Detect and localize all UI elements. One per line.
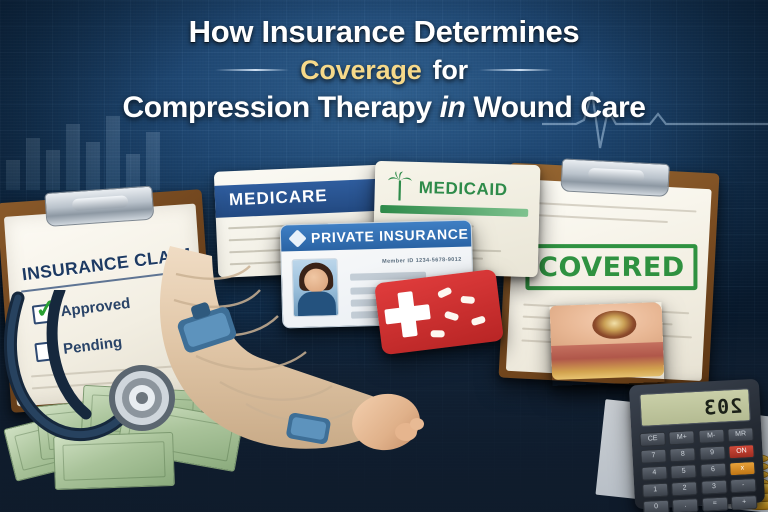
calculator[interactable]: 203 CE M+ M- MR 7 8 9 ON 4 5 6 x 1 2 3 -… [629,379,765,510]
calculator-key[interactable]: M+ [669,430,696,445]
status-stamp-covered: COVERED [525,244,697,290]
title-line-2: Coverage for [0,55,768,86]
calculator-key[interactable]: 3 [701,480,728,495]
card-medicaid-label: MEDICAID [419,178,508,200]
card-medicaid-accent-bar [380,205,528,217]
title-highlight-word: Coverage [300,55,421,86]
calculator-key[interactable]: MR [727,427,754,442]
calculator-key[interactable]: . [672,498,699,512]
calculator-key[interactable]: 4 [641,466,668,481]
title-line-3: Compression Therapy in Wound Care [0,91,768,125]
poster-canvas: How Insurance Determines Coverage for Co… [0,0,768,512]
poster-title-block: How Insurance Determines Coverage for Co… [0,16,768,125]
calculator-key[interactable]: CE [639,432,666,447]
calculator-key[interactable]: 0 [643,500,670,512]
calculator-key-multiply[interactable]: x [729,461,756,476]
calculator-key[interactable]: 6 [700,463,727,478]
calculator-keypad[interactable]: CE M+ M- MR 7 8 9 ON 4 5 6 x 1 2 3 - 0 .… [639,427,757,512]
title-line-2-rest: for [433,55,468,86]
calculator-display: 203 [639,388,751,427]
clipboard-clip-icon [560,158,670,197]
title-line-3-a: Compression Therapy [122,91,431,124]
calculator-key-equals[interactable]: = [702,496,729,511]
calculator-key-minus[interactable]: - [730,478,757,493]
title-line-3-c: Wound Care [473,91,645,124]
card-medicare-banner: MEDICARE [214,178,393,218]
card-medicare-label: MEDICARE [229,186,328,210]
calculator-key[interactable]: M- [698,429,725,444]
bandaged-leg-compression-wrap [140,236,440,486]
title-rule-left [215,69,289,71]
calculator-display-value: 203 [702,393,742,419]
calculator-key[interactable]: 5 [670,464,697,479]
wound-tissue-layers [551,342,664,380]
title-line-3-b: in [440,91,466,124]
palm-tree-icon [386,171,413,202]
wound-cross-section-illustration [550,302,665,386]
calculator-key[interactable]: 9 [699,446,726,461]
title-line-1: How Insurance Determines [0,16,768,49]
calculator-key[interactable]: 1 [642,483,669,498]
calculator-key[interactable]: 2 [671,481,698,496]
calculator-key[interactable]: 8 [670,447,697,462]
calculator-key-on[interactable]: ON [728,444,755,459]
calculator-key-plus[interactable]: + [731,495,758,510]
calculator-key[interactable]: 7 [640,449,667,464]
status-stamp-label: COVERED [538,252,685,283]
title-rule-right [479,69,553,71]
